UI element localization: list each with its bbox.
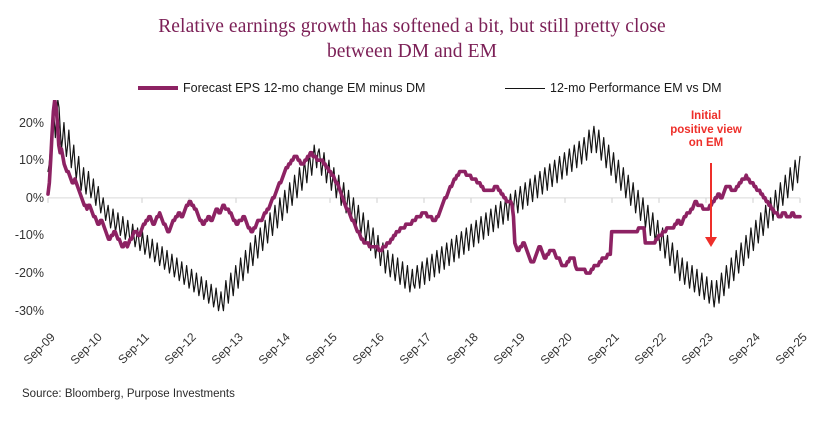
annotation-line-2: positive view [660, 124, 752, 138]
annotation-line-1: Initial [660, 110, 752, 124]
annotation-arrow-head-icon [705, 237, 717, 247]
annotation-initial-positive-view: Initial positive view on EM [660, 110, 752, 151]
source-note: Source: Bloomberg, Purpose Investments [22, 388, 235, 400]
annotation-line-3: on EM [660, 137, 752, 151]
chart-figure: Relative earnings growth has softened a … [0, 0, 824, 430]
plot-area [0, 0, 824, 430]
